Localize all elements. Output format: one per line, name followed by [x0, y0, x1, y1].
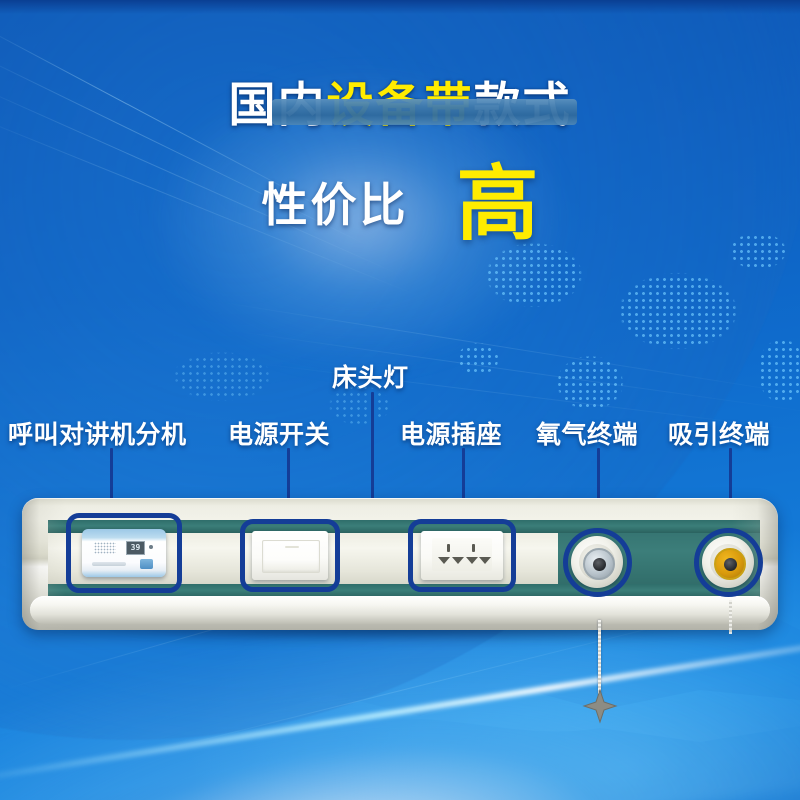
headline-line-2: 性价比: [261, 182, 408, 228]
headline-line-2-row: 性价比 高: [0, 168, 800, 242]
promo-banner: 国内设备带款式 性价比 高 呼叫对讲机分机 电源开关 床头灯 电源插座 氧气终端…: [0, 0, 800, 800]
top-vignette: [0, 0, 800, 14]
highlight-circle-oxygen-terminal: [563, 528, 632, 597]
callout-label-nurse-call-intercom: 呼叫对讲机分机: [8, 415, 187, 451]
bar-rail-blue-section: [272, 99, 577, 125]
highlight-box-power-switch: [240, 519, 340, 592]
pull-cord-secondary[interactable]: [729, 600, 732, 634]
callout-label-power-socket: 电源插座: [400, 415, 502, 451]
callout-label-power-switch: 电源开关: [228, 415, 330, 451]
highlight-box-nurse-call-intercom: [66, 513, 182, 593]
callout-label-bed-lamp: 床头灯: [332, 358, 409, 394]
highlight-circle-suction-terminal: [694, 528, 763, 597]
bar-bottom-rail: [30, 596, 770, 624]
callout-label-oxygen-terminal: 氧气终端: [536, 415, 638, 451]
headline-emphasis-character: 高: [456, 168, 538, 242]
pull-cord[interactable]: [598, 620, 601, 694]
callout-label-suction-terminal: 吸引终端: [668, 415, 770, 451]
highlight-box-power-socket: [408, 519, 516, 592]
pull-cord-handle-icon[interactable]: [582, 688, 618, 724]
